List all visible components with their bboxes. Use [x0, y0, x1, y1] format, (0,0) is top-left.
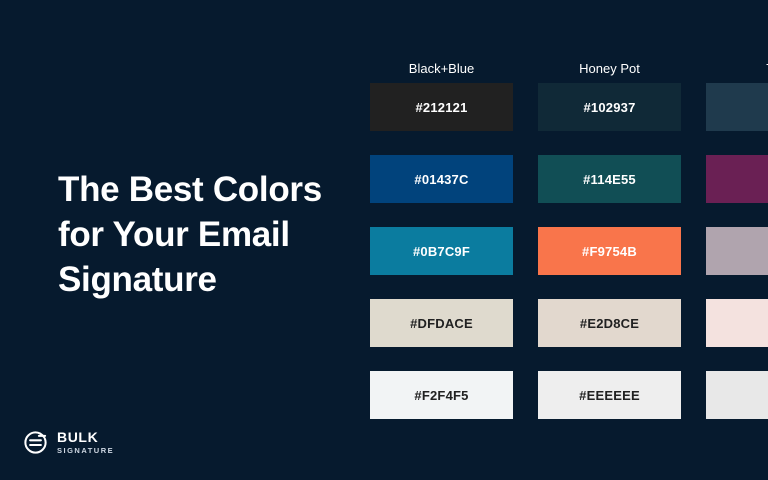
logo-wordmark: BULK SIGNATURE	[57, 430, 114, 455]
color-swatch[interactable]: #01437C	[370, 155, 513, 203]
color-swatch[interactable]: #F9754B	[538, 227, 681, 275]
color-swatch[interactable]: #E	[706, 371, 768, 419]
logo-primary-text: BULK	[57, 430, 114, 445]
palette-column: Black+Blue#212121#01437C#0B7C9F#DFDACE#F…	[370, 60, 513, 419]
swatch-list: #102937#114E55#F9754B#E2D8CE#EEEEEE	[538, 83, 681, 419]
color-swatch[interactable]: #1	[706, 83, 768, 131]
color-swatch[interactable]: #102937	[538, 83, 681, 131]
brand-logo[interactable]: BULK SIGNATURE	[22, 429, 114, 456]
color-swatch[interactable]: #0B7C9F	[370, 227, 513, 275]
color-swatch[interactable]: #EEEEEE	[538, 371, 681, 419]
bulk-signature-logo-mark-icon	[22, 429, 49, 456]
page-title: The Best Colors for Your Email Signature	[58, 168, 348, 302]
palette-column: Honey Pot#102937#114E55#F9754B#E2D8CE#EE…	[538, 60, 681, 419]
swatch-list: #1#6#B#F#E	[706, 83, 768, 419]
color-swatch[interactable]: #F2F4F5	[370, 371, 513, 419]
color-palette-grid: Black+Blue#212121#01437C#0B7C9F#DFDACE#F…	[370, 60, 768, 419]
palette-column-title: Black+Blue	[370, 60, 513, 83]
palette-column-title: The	[706, 60, 768, 83]
slide-canvas: The Best Colors for Your Email Signature…	[0, 0, 768, 480]
color-swatch[interactable]: #B	[706, 227, 768, 275]
color-swatch[interactable]: #212121	[370, 83, 513, 131]
palette-column: The#1#6#B#F#E	[706, 60, 768, 419]
left-panel: The Best Colors for Your Email Signature…	[0, 0, 360, 480]
color-swatch[interactable]: #F	[706, 299, 768, 347]
color-swatch[interactable]: #DFDACE	[370, 299, 513, 347]
color-swatch[interactable]: #E2D8CE	[538, 299, 681, 347]
logo-secondary-text: SIGNATURE	[57, 447, 114, 455]
swatch-list: #212121#01437C#0B7C9F#DFDACE#F2F4F5	[370, 83, 513, 419]
color-swatch[interactable]: #6	[706, 155, 768, 203]
color-swatch[interactable]: #114E55	[538, 155, 681, 203]
palette-column-title: Honey Pot	[538, 60, 681, 83]
